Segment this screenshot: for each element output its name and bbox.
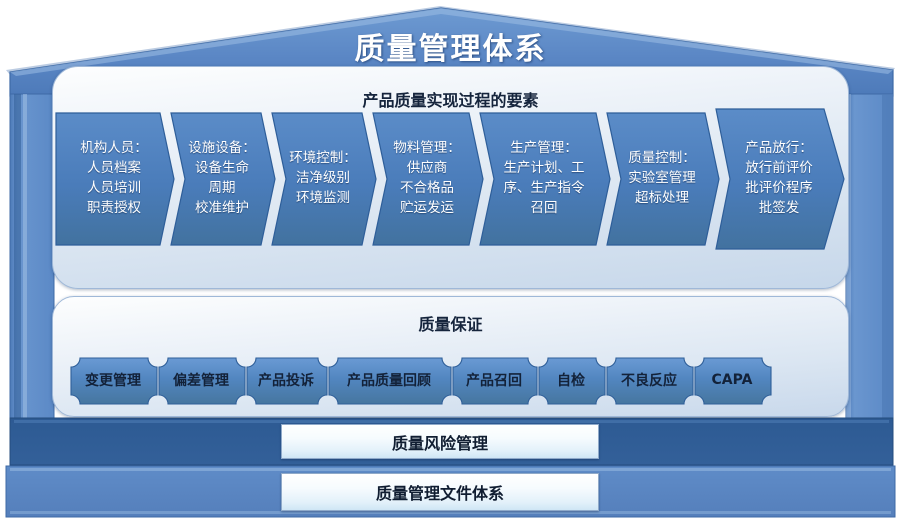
process-step-1[interactable]: 机构人员：人员档案人员培训职责授权 xyxy=(55,112,173,244)
quality-management-system-diagram: 质量管理体系 产品质量实现过程的要素 确认与验证 机构人员：人员档案人员培训职责… xyxy=(0,0,901,523)
qa-chip-7[interactable]: 不良反应 xyxy=(606,357,692,403)
qa-chip-6[interactable]: 自检 xyxy=(538,357,604,403)
panel-qa-heading: 质量保证 xyxy=(53,311,848,335)
process-step-7[interactable]: 产品放行：放行前评价批评价程序批签发 xyxy=(715,108,843,248)
process-step-3[interactable]: 环境控制：洁净级别环境监测 xyxy=(271,112,375,244)
process-step-2[interactable]: 设施设备：设备生命周期校准维护 xyxy=(170,112,274,244)
quality-risk-management-bar[interactable]: 质量风险管理 xyxy=(281,424,599,459)
qa-chip-3[interactable]: 产品投诉 xyxy=(246,357,326,403)
qa-chip-4[interactable]: 产品质量回顾 xyxy=(328,357,450,403)
process-step-6[interactable]: 质量控制：实验室管理超标处理 xyxy=(606,112,718,244)
qa-chip-1[interactable]: 变更管理 xyxy=(70,357,156,403)
process-step-5[interactable]: 生产管理：生产计划、工序、生产指令召回 xyxy=(479,112,609,244)
process-chevron-row: 机构人员：人员档案人员培训职责授权设施设备：设备生命周期校准维护环境控制：洁净级… xyxy=(52,112,849,248)
process-step-4[interactable]: 物料管理：供应商不合格品贮运发运 xyxy=(372,112,482,244)
qa-chip-8[interactable]: CAPA xyxy=(694,357,770,403)
quality-document-system-bar[interactable]: 质量管理文件体系 xyxy=(281,473,599,511)
quality-assurance-chip-row: 变更管理偏差管理产品投诉产品质量回顾产品召回自检不良反应CAPA xyxy=(70,357,772,403)
qa-chip-2[interactable]: 偏差管理 xyxy=(158,357,244,403)
qa-chip-5[interactable]: 产品召回 xyxy=(452,357,536,403)
